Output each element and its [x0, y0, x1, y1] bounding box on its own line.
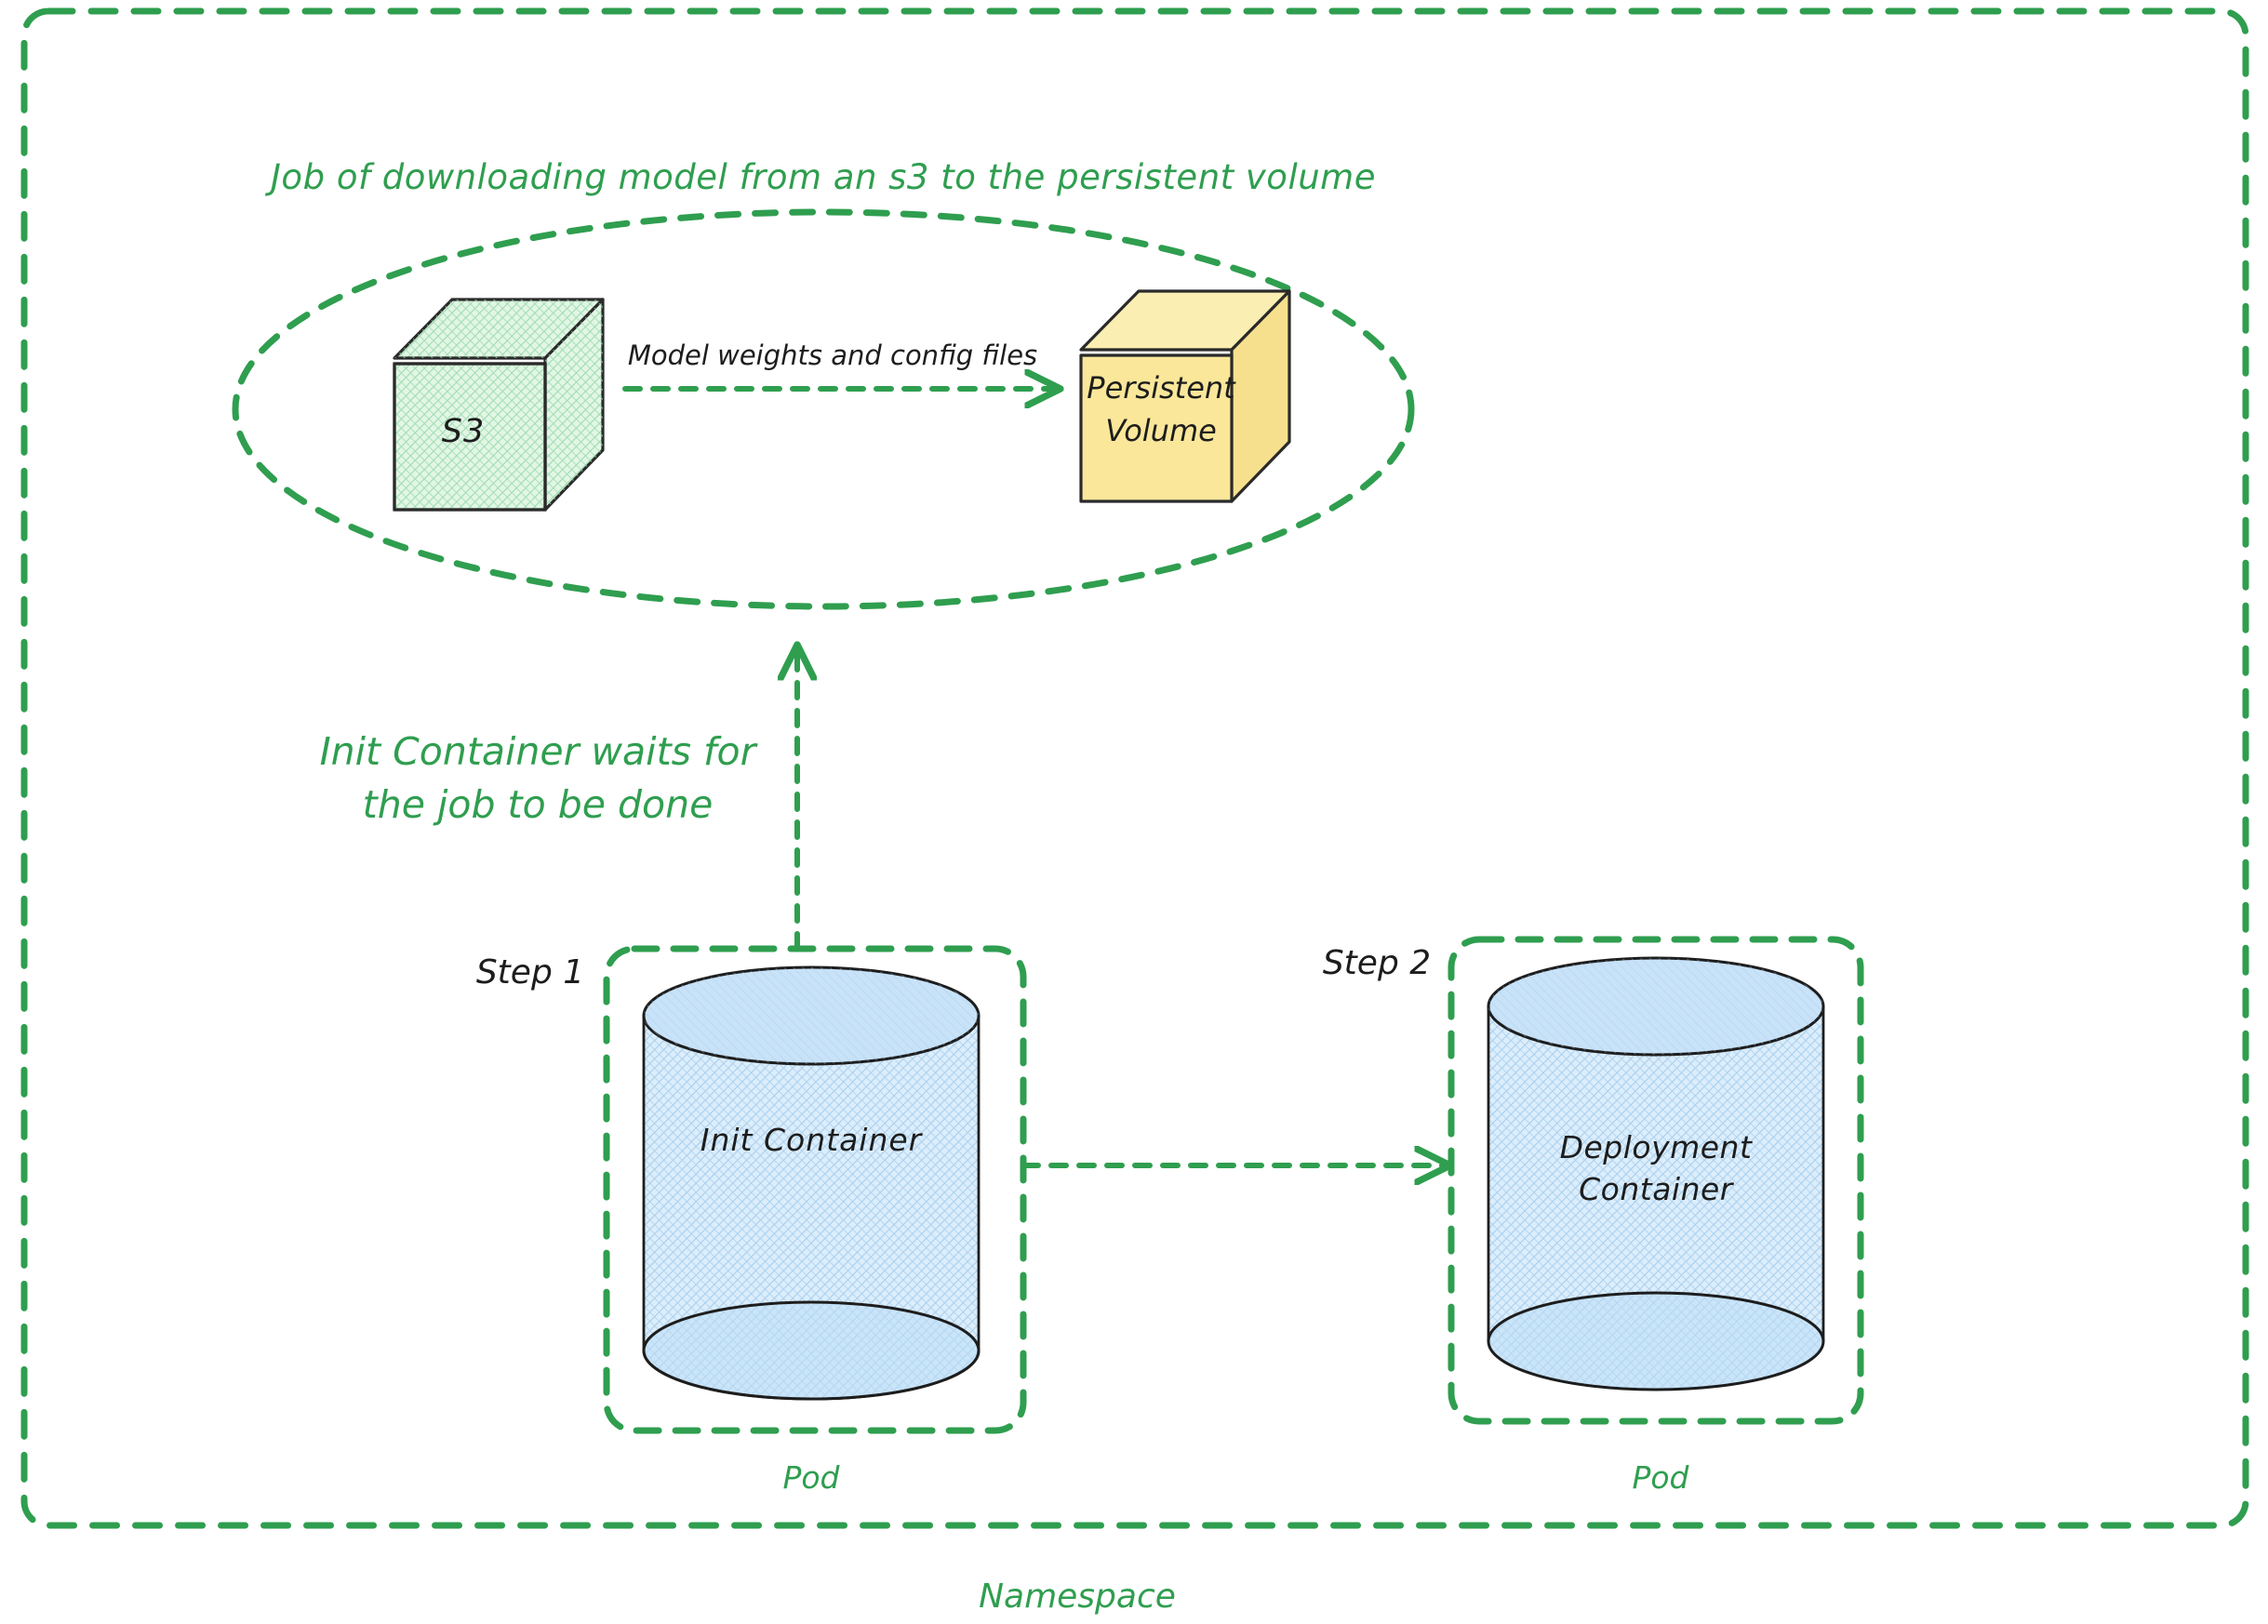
namespace-boundary — [24, 11, 2246, 1525]
persistent-volume-label-line1: Persistent — [1087, 370, 1236, 406]
namespace-label: Namespace — [979, 1577, 1176, 1616]
model-transfer-label: Model weights and config files — [628, 339, 1037, 371]
job-boundary-ellipse — [235, 212, 1411, 606]
deployment-container-label-line2: Container — [1579, 1171, 1735, 1207]
diagram-canvas: Job of downloading model from an s3 to t… — [0, 0, 2268, 1624]
persistent-volume-label-line2: Volume — [1105, 413, 1217, 448]
deployment-container-cylinder — [1488, 958, 1823, 1390]
pod-2-boundary — [1451, 939, 1861, 1421]
pod-1-label: Pod — [782, 1459, 840, 1496]
pod-2-label: Pod — [1632, 1459, 1689, 1496]
pod-1-boundary — [607, 949, 1023, 1431]
init-wait-label-line1: Init Container waits for — [320, 729, 758, 774]
diagram-svg: Job of downloading model from an s3 to t… — [0, 0, 2268, 1624]
job-title: Job of downloading model from an s3 to t… — [264, 157, 1376, 197]
s3-cube — [394, 300, 603, 510]
persistent-volume-cube — [1081, 291, 1289, 501]
step-2-label: Step 2 — [1323, 944, 1431, 982]
deployment-container-label-line1: Deployment — [1560, 1129, 1753, 1165]
init-container-label: Init Container — [700, 1122, 924, 1158]
s3-label: S3 — [442, 413, 486, 450]
init-wait-label-line2: the job to be done — [363, 782, 714, 827]
step-1-label: Step 1 — [476, 953, 584, 992]
init-container-cylinder — [644, 967, 979, 1399]
